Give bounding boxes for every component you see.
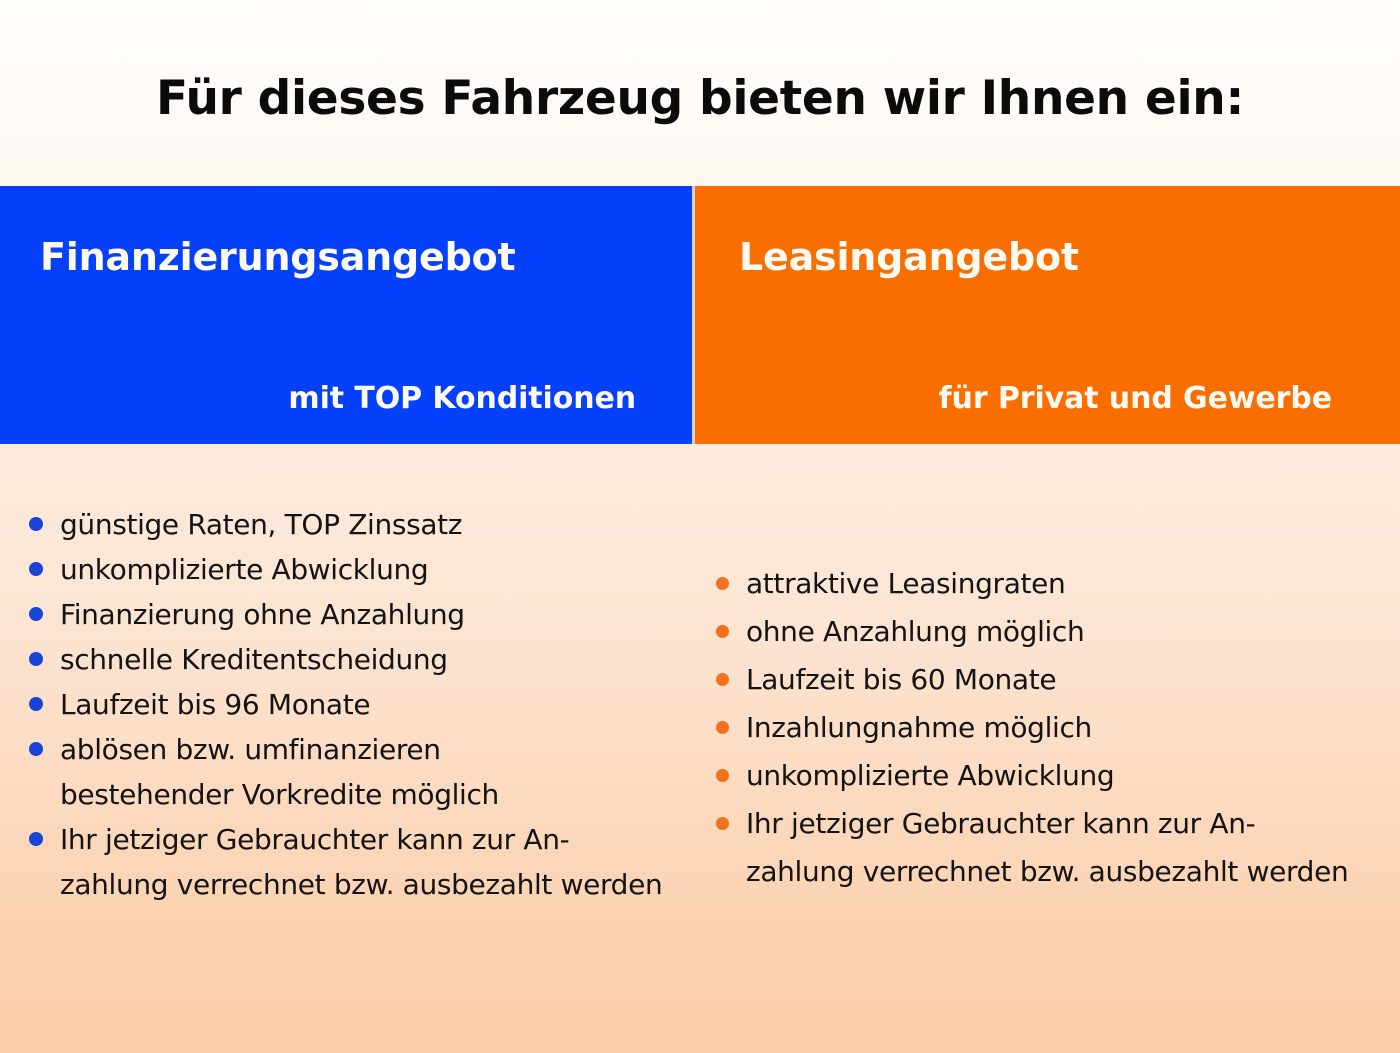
list-item: Finanzierung ohne Anzahlung: [18, 592, 682, 637]
lease-bullet-icon: [716, 769, 729, 782]
list-item-line: Laufzeit bis 60 Monate: [746, 656, 1390, 704]
list-item: attraktive Leasingraten: [704, 560, 1390, 608]
finance-subheading: mit TOP Konditionen: [40, 381, 636, 416]
list-item-line: Inzahlungnahme möglich: [746, 704, 1390, 752]
finance-column: günstige Raten, TOP Zinssatzunkomplizier…: [0, 444, 692, 1053]
offer-slide: Für dieses Fahrzeug bieten wir Ihnen ein…: [0, 0, 1400, 1053]
finance-bullet-icon: [29, 652, 43, 666]
list-item-line: zahlung verrechnet bzw. ausbezahlt werde…: [746, 848, 1390, 896]
list-item-line: Finanzierung ohne Anzahlung: [60, 592, 682, 637]
list-item: Laufzeit bis 96 Monate: [18, 682, 682, 727]
list-item: unkomplizierte Abwicklung: [18, 547, 682, 592]
list-item-line: unkomplizierte Abwicklung: [60, 547, 682, 592]
list-item-line: ablösen bzw. umfinanzieren: [60, 727, 682, 772]
list-item-line: ohne Anzahlung möglich: [746, 608, 1390, 656]
title-bar: Für dieses Fahrzeug bieten wir Ihnen ein…: [0, 0, 1400, 186]
finance-heading: Finanzierungsangebot: [40, 238, 636, 276]
offer-columns: günstige Raten, TOP Zinssatzunkomplizier…: [0, 444, 1400, 1053]
list-item-line: Ihr jetziger Gebrauchter kann zur An-: [60, 817, 682, 862]
lease-bullet-icon: [716, 673, 729, 686]
list-item-line: bestehender Vorkredite möglich: [60, 772, 682, 817]
list-item-line: attraktive Leasingraten: [746, 560, 1390, 608]
lease-bullet-icon: [716, 577, 729, 590]
page-title: Für dieses Fahrzeug bieten wir Ihnen ein…: [156, 71, 1244, 126]
list-item-line: Laufzeit bis 96 Monate: [60, 682, 682, 727]
list-item: Ihr jetziger Gebrauchter kann zur An-zah…: [18, 817, 682, 907]
list-item: ohne Anzahlung möglich: [704, 608, 1390, 656]
list-item: Inzahlungnahme möglich: [704, 704, 1390, 752]
finance-bullet-icon: [29, 517, 43, 531]
lease-subheading: für Privat und Gewerbe: [739, 381, 1332, 416]
lease-bullet-icon: [716, 817, 729, 830]
lease-bullet-icon: [716, 721, 729, 734]
list-item: günstige Raten, TOP Zinssatz: [18, 502, 682, 547]
finance-bullet-icon: [29, 607, 43, 621]
finance-bullet-icon: [29, 562, 43, 576]
lease-column: attraktive Leasingratenohne Anzahlung mö…: [692, 444, 1400, 1053]
list-item: unkomplizierte Abwicklung: [704, 752, 1390, 800]
lease-heading: Leasingangebot: [739, 238, 1332, 276]
list-item: schnelle Kreditentscheidung: [18, 637, 682, 682]
finance-bullet-icon: [29, 742, 43, 756]
list-item-line: Ihr jetziger Gebrauchter kann zur An-: [746, 800, 1390, 848]
list-item-line: schnelle Kreditentscheidung: [60, 637, 682, 682]
lease-bullet-list: attraktive Leasingratenohne Anzahlung mö…: [704, 560, 1390, 896]
list-item: Ihr jetziger Gebrauchter kann zur An-zah…: [704, 800, 1390, 896]
lease-banner[interactable]: Leasingangebot für Privat und Gewerbe: [692, 186, 1400, 444]
list-item: Laufzeit bis 60 Monate: [704, 656, 1390, 704]
finance-bullet-icon: [29, 832, 43, 846]
lease-bullet-icon: [716, 625, 729, 638]
finance-bullet-list: günstige Raten, TOP Zinssatzunkomplizier…: [18, 502, 682, 907]
offer-banners: Finanzierungsangebot mit TOP Konditionen…: [0, 186, 1400, 444]
list-item: ablösen bzw. umfinanzierenbestehender Vo…: [18, 727, 682, 817]
finance-banner[interactable]: Finanzierungsangebot mit TOP Konditionen: [0, 186, 692, 444]
finance-bullet-icon: [29, 697, 43, 711]
list-item-line: zahlung verrechnet bzw. ausbezahlt werde…: [60, 862, 682, 907]
list-item-line: günstige Raten, TOP Zinssatz: [60, 502, 682, 547]
list-item-line: unkomplizierte Abwicklung: [746, 752, 1390, 800]
